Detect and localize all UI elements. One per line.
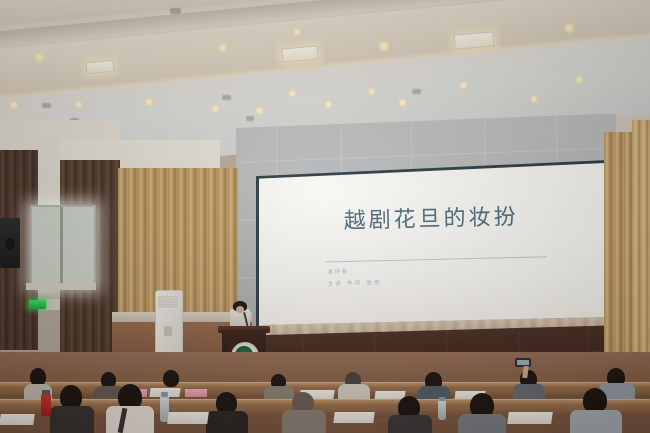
paper-stack bbox=[0, 414, 35, 425]
downlight-icon bbox=[144, 97, 154, 107]
red-thermos bbox=[41, 394, 51, 416]
exit-sign-housing bbox=[45, 299, 60, 310]
ceiling-vent-icon bbox=[170, 8, 181, 14]
downlight-icon bbox=[324, 100, 333, 109]
audience-torso bbox=[206, 411, 248, 433]
downlight-icon bbox=[211, 104, 220, 113]
exit-sign-icon bbox=[29, 300, 46, 309]
side-window bbox=[30, 205, 96, 289]
ceiling-vent-icon bbox=[222, 95, 231, 100]
audience-torso bbox=[50, 406, 94, 433]
slide-divider-rule bbox=[325, 256, 547, 262]
lecture-hall-photo: 越剧花旦的妆扮 演讲者 主讲 李萍 金燕 bbox=[0, 0, 650, 433]
downlight-icon bbox=[530, 95, 538, 103]
slide-subtitle-line1: 演讲者 bbox=[327, 267, 348, 275]
phone-screen-icon bbox=[517, 360, 529, 365]
paper-stack bbox=[167, 412, 209, 424]
downlight-icon bbox=[34, 52, 45, 63]
downlight-icon bbox=[575, 75, 584, 84]
paper-stack bbox=[507, 412, 553, 424]
slide-title: 越剧花旦的妆扮 bbox=[259, 197, 604, 237]
ceiling-vent-icon bbox=[246, 116, 254, 121]
downlight-icon bbox=[74, 100, 83, 109]
downlight-icon bbox=[398, 98, 407, 107]
downlight-icon bbox=[563, 22, 575, 34]
bottle-cap-icon bbox=[439, 397, 445, 401]
thermos-cap-icon bbox=[42, 390, 50, 395]
air-conditioner-panel-icon bbox=[164, 326, 172, 336]
downlight-icon bbox=[292, 27, 302, 37]
presentation-slide[interactable]: 越剧花旦的妆扮 演讲者 主讲 李萍 金燕 bbox=[259, 163, 605, 347]
slide-subtitle-line2: 主讲 李萍 金燕 bbox=[328, 278, 382, 287]
audience-torso bbox=[570, 410, 622, 433]
window-mullion bbox=[60, 207, 63, 283]
bottle-cap-icon bbox=[161, 392, 168, 397]
downlight-icon bbox=[288, 89, 297, 98]
window-sill bbox=[26, 283, 96, 290]
audience-torso bbox=[282, 410, 326, 433]
audience-torso bbox=[338, 384, 370, 400]
downlight-icon bbox=[378, 40, 390, 52]
audience-torso bbox=[106, 406, 154, 433]
downlight-icon bbox=[459, 81, 468, 90]
paper-stack bbox=[333, 412, 375, 423]
loudspeaker-cone-icon bbox=[5, 238, 15, 250]
audience-torso bbox=[264, 386, 294, 400]
pink-handout bbox=[185, 389, 207, 397]
downlight-icon bbox=[255, 106, 264, 115]
downlight-icon bbox=[9, 100, 19, 110]
audience-torso bbox=[388, 415, 432, 433]
air-conditioner-grill-icon bbox=[158, 296, 178, 308]
downlight-icon bbox=[217, 42, 228, 53]
water-bottle bbox=[438, 400, 446, 420]
audience-head bbox=[163, 370, 179, 387]
curtain-gold-right-edge bbox=[632, 120, 650, 390]
audience-torso bbox=[458, 414, 506, 433]
ceiling-vent-icon bbox=[42, 103, 51, 108]
downlight-icon bbox=[367, 87, 376, 96]
ceiling-vent-icon bbox=[412, 89, 421, 94]
ceiling-panel-light bbox=[86, 60, 115, 74]
